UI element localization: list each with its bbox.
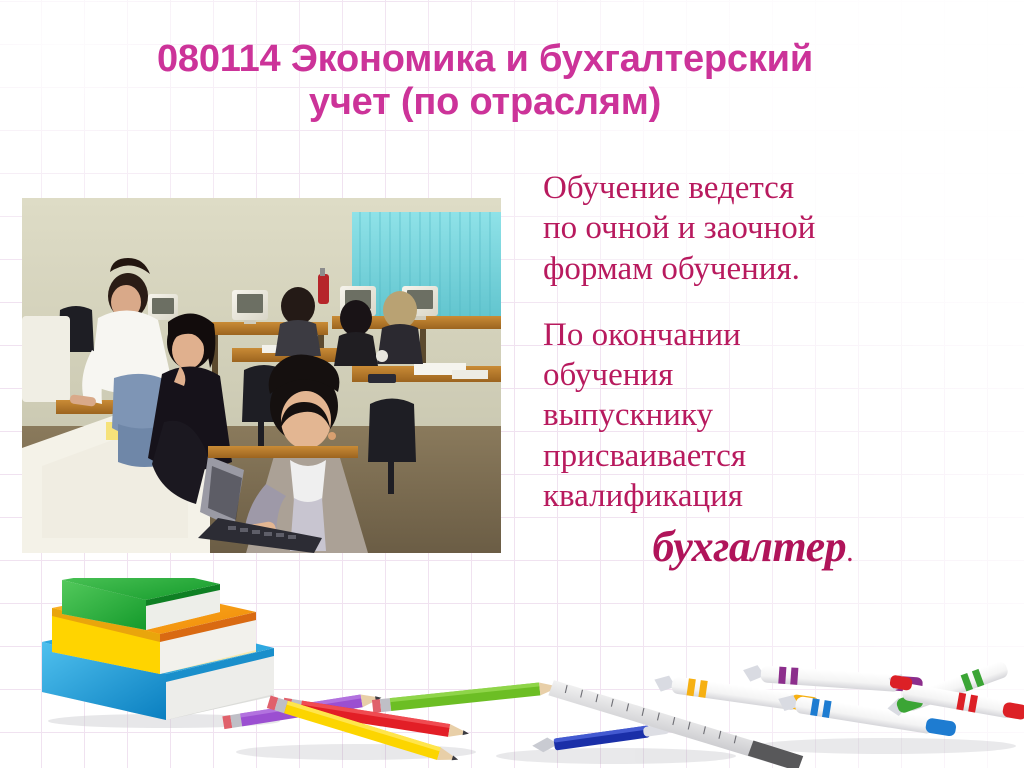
classroom-photo-illustration <box>22 198 501 553</box>
stationery-decoration <box>196 660 1024 768</box>
slide-title: 080114 Экономика и бухгалтерский учет (п… <box>40 38 930 123</box>
qualification-word: бухгалтер <box>652 522 846 571</box>
qualification-emphasis-line: бухгалтер. <box>543 518 963 575</box>
stationery-illustration <box>196 660 1024 768</box>
body-text-column: Обучение ведется по очной и заочной форм… <box>543 168 963 575</box>
classroom-photo <box>22 198 501 553</box>
green-pencil <box>372 680 560 713</box>
qualification-period: . <box>846 535 854 568</box>
paragraph-qualification: По окончании обучения выпускнику присваи… <box>543 315 963 516</box>
paragraph-training-forms: Обучение ведется по очной и заочной форм… <box>543 168 963 289</box>
presentation-slide: 080114 Экономика и бухгалтерский учет (п… <box>0 0 1024 768</box>
